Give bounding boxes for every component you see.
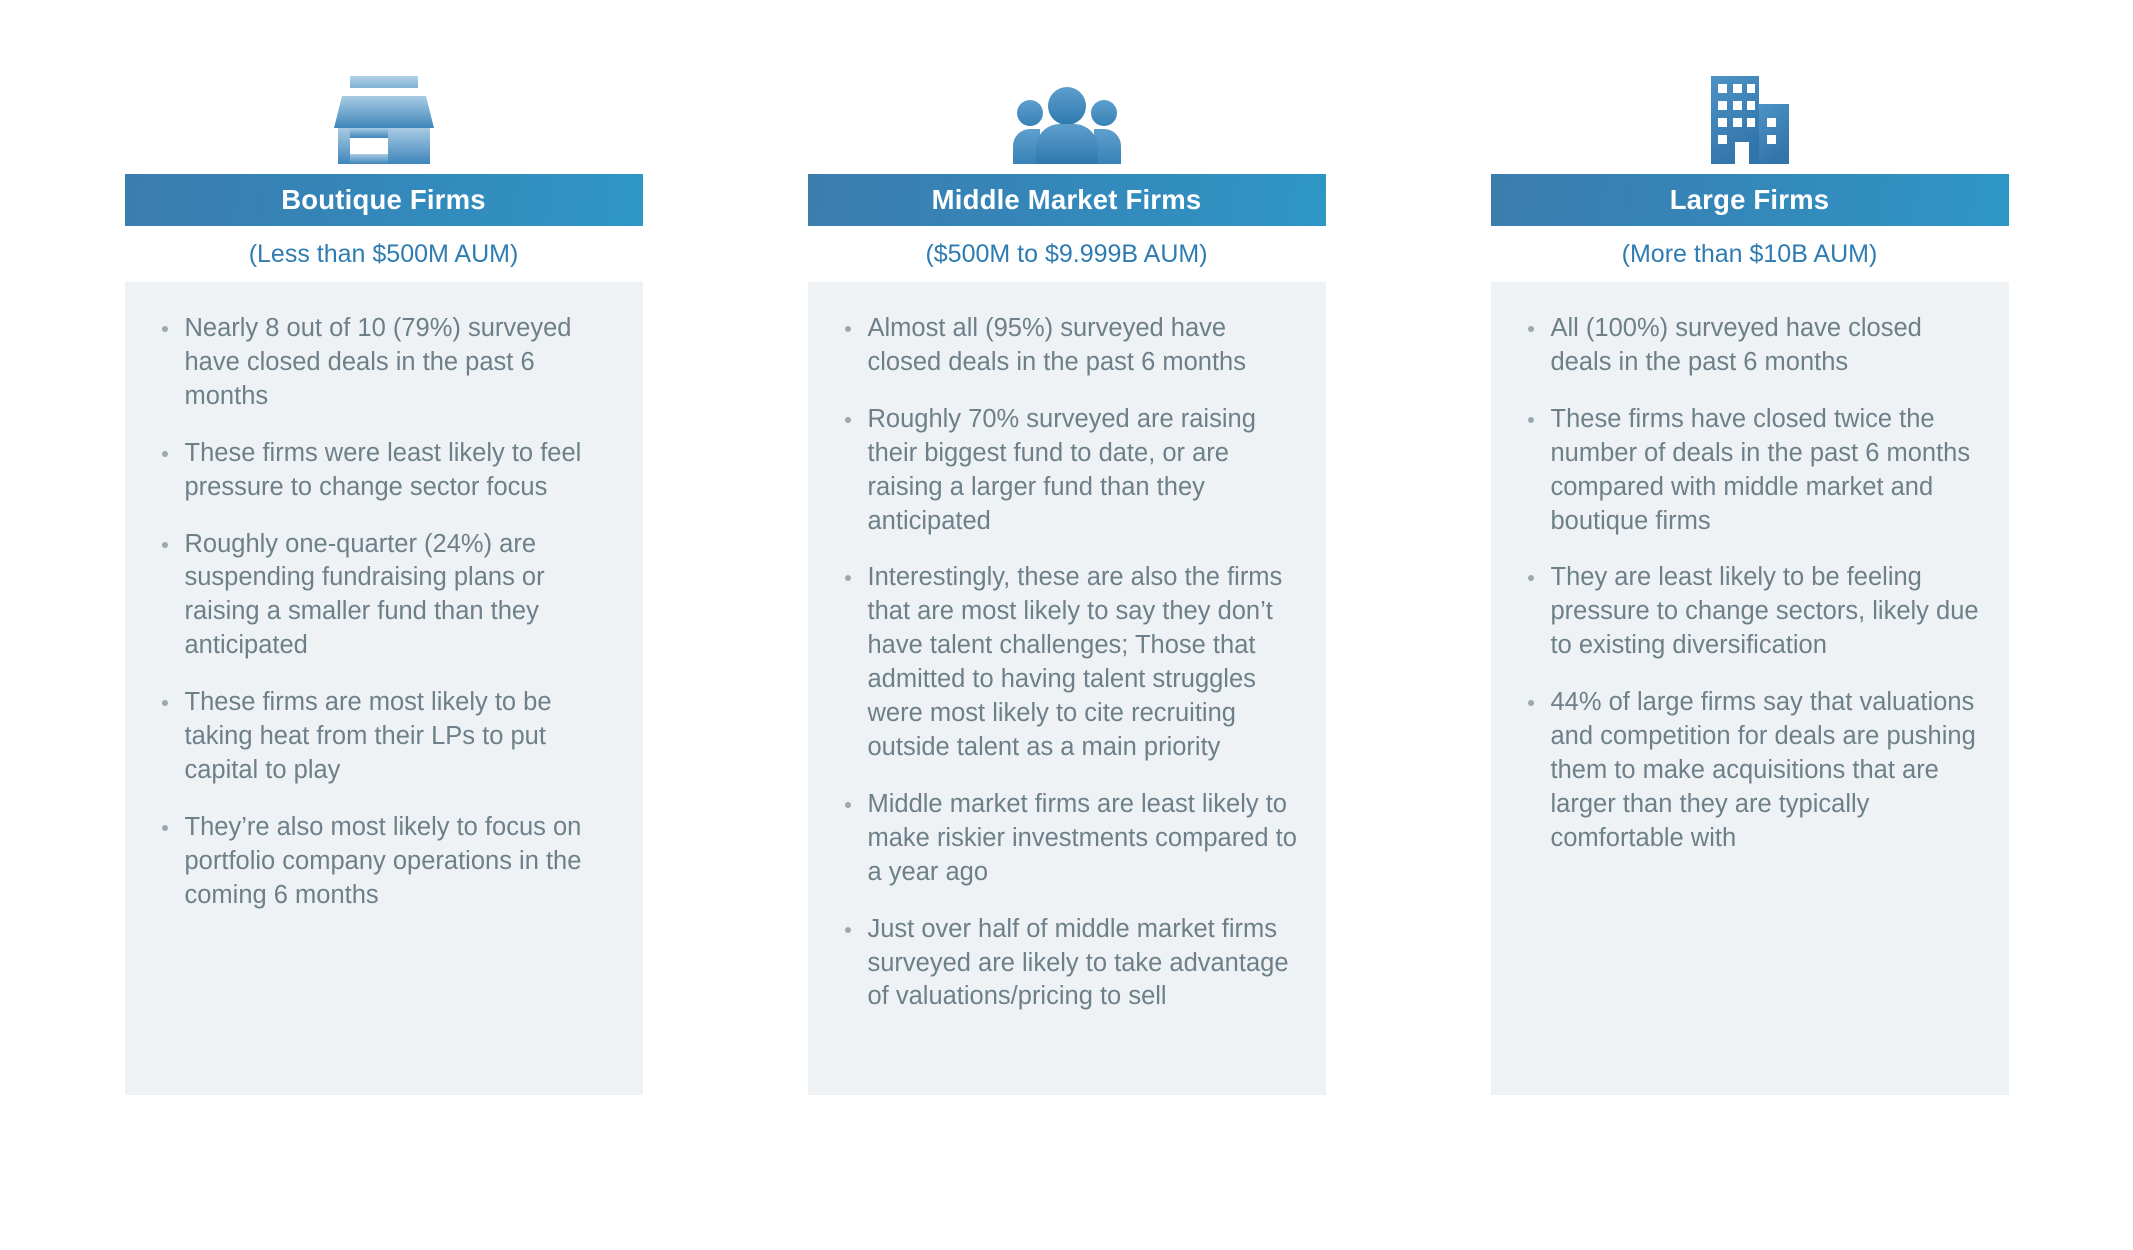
- bullet-list: All (100%) surveyed have closed deals in…: [1521, 312, 1983, 856]
- column-subtitle: (Less than $500M AUM): [249, 242, 519, 267]
- storefront-icon: [125, 62, 643, 174]
- column-title: Boutique Firms: [281, 186, 485, 214]
- column-middle-market-firms: Middle Market Firms ($500M to $9.999B AU…: [808, 62, 1326, 1095]
- column-title: Large Firms: [1670, 186, 1830, 214]
- column-boutique-firms: Boutique Firms (Less than $500M AUM) Nea…: [125, 62, 643, 1095]
- column-header-bar: Boutique Firms: [125, 174, 643, 226]
- office-buildings-icon: [1491, 62, 2009, 174]
- list-item: These firms were least likely to feel pr…: [155, 437, 617, 505]
- columns-container: Boutique Firms (Less than $500M AUM) Nea…: [0, 0, 2133, 1250]
- column-subtitle-wrap: (More than $10B AUM): [1491, 226, 2009, 282]
- list-item: Roughly one-quarter (24%) are suspending…: [155, 528, 617, 664]
- column-body-panel: Almost all (95%) surveyed have closed de…: [808, 282, 1326, 1095]
- list-item: These firms are most likely to be taking…: [155, 686, 617, 788]
- column-large-firms: Large Firms (More than $10B AUM) All (10…: [1491, 62, 2009, 1095]
- list-item: Almost all (95%) surveyed have closed de…: [838, 312, 1300, 380]
- bullet-list: Almost all (95%) surveyed have closed de…: [838, 312, 1300, 1014]
- list-item: Nearly 8 out of 10 (79%) surveyed have c…: [155, 312, 617, 414]
- column-title: Middle Market Firms: [932, 186, 1202, 214]
- column-subtitle: ($500M to $9.999B AUM): [925, 242, 1207, 267]
- list-item: Roughly 70% surveyed are raising their b…: [838, 403, 1300, 539]
- column-subtitle-wrap: ($500M to $9.999B AUM): [808, 226, 1326, 282]
- infographic-board: Boutique Firms (Less than $500M AUM) Nea…: [0, 0, 2133, 1250]
- column-subtitle: (More than $10B AUM): [1622, 242, 1878, 267]
- list-item: They’re also most likely to focus on por…: [155, 811, 617, 913]
- column-body-panel: Nearly 8 out of 10 (79%) surveyed have c…: [125, 282, 643, 1095]
- list-item: They are least likely to be feeling pres…: [1521, 561, 1983, 663]
- list-item: These firms have closed twice the number…: [1521, 403, 1983, 539]
- list-item: Just over half of middle market firms su…: [838, 913, 1300, 1015]
- column-subtitle-wrap: (Less than $500M AUM): [125, 226, 643, 282]
- column-header-bar: Middle Market Firms: [808, 174, 1326, 226]
- column-body-panel: All (100%) surveyed have closed deals in…: [1491, 282, 2009, 1095]
- list-item: 44% of large firms say that valuations a…: [1521, 686, 1983, 856]
- list-item: Middle market firms are least likely to …: [838, 788, 1300, 890]
- people-group-icon: [808, 62, 1326, 174]
- list-item: All (100%) surveyed have closed deals in…: [1521, 312, 1983, 380]
- column-header-bar: Large Firms: [1491, 174, 2009, 226]
- bullet-list: Nearly 8 out of 10 (79%) surveyed have c…: [155, 312, 617, 913]
- list-item: Interestingly, these are also the firms …: [838, 561, 1300, 764]
